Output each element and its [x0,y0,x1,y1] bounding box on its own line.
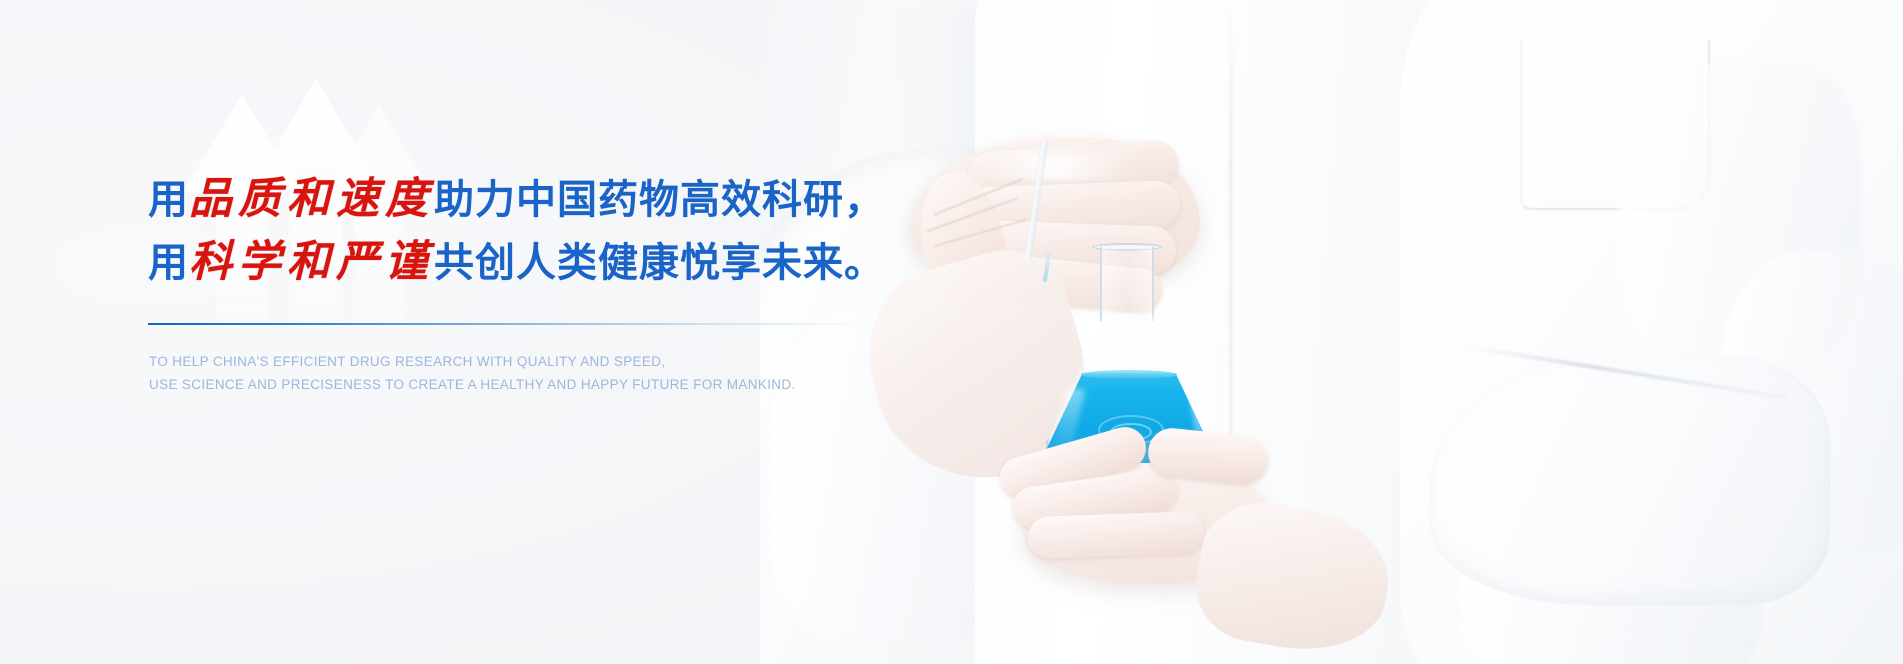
subtitle-line-1: TO HELP CHINA'S EFFICIENT DRUG RESEARCH … [149,354,665,369]
headline-divider [148,323,863,325]
gloved-hand-icon-lower [998,430,1298,610]
finger-ring [1027,511,1204,559]
upward-arrow-decoration-group [0,0,760,664]
liquid-surface [1081,370,1177,379]
glove-highlight [980,154,1130,180]
headline-line-2-suffix: 共创人类健康悦享未来。 [434,241,885,285]
headline-line-2-emphasis: 科学和严谨 [189,237,434,287]
flask-neck [1100,247,1154,321]
lab-researcher-photo [760,0,1903,664]
headline-line-1-prefix: 用 [148,178,189,222]
hero-text-block: 用品质和速度助力中国药物高效科研， 用科学和严谨共创人类健康悦享未来。 [148,178,928,284]
headline-line-1: 用品质和速度助力中国药物高效科研， [148,178,928,221]
headline-line-1-suffix: 助力中国药物高效科研， [434,178,885,222]
hero-banner: 用品质和速度助力中国药物高效科研， 用科学和严谨共创人类健康悦享未来。 TO H… [0,0,1903,664]
headline-line-2: 用科学和严谨共创人类健康悦享未来。 [148,241,928,284]
headline-line-2-prefix: 用 [148,241,189,285]
subtitle-line-2: USE SCIENCE AND PRECISENESS TO CREATE A … [149,377,796,392]
headline-line-1-emphasis: 品质和速度 [189,174,434,224]
